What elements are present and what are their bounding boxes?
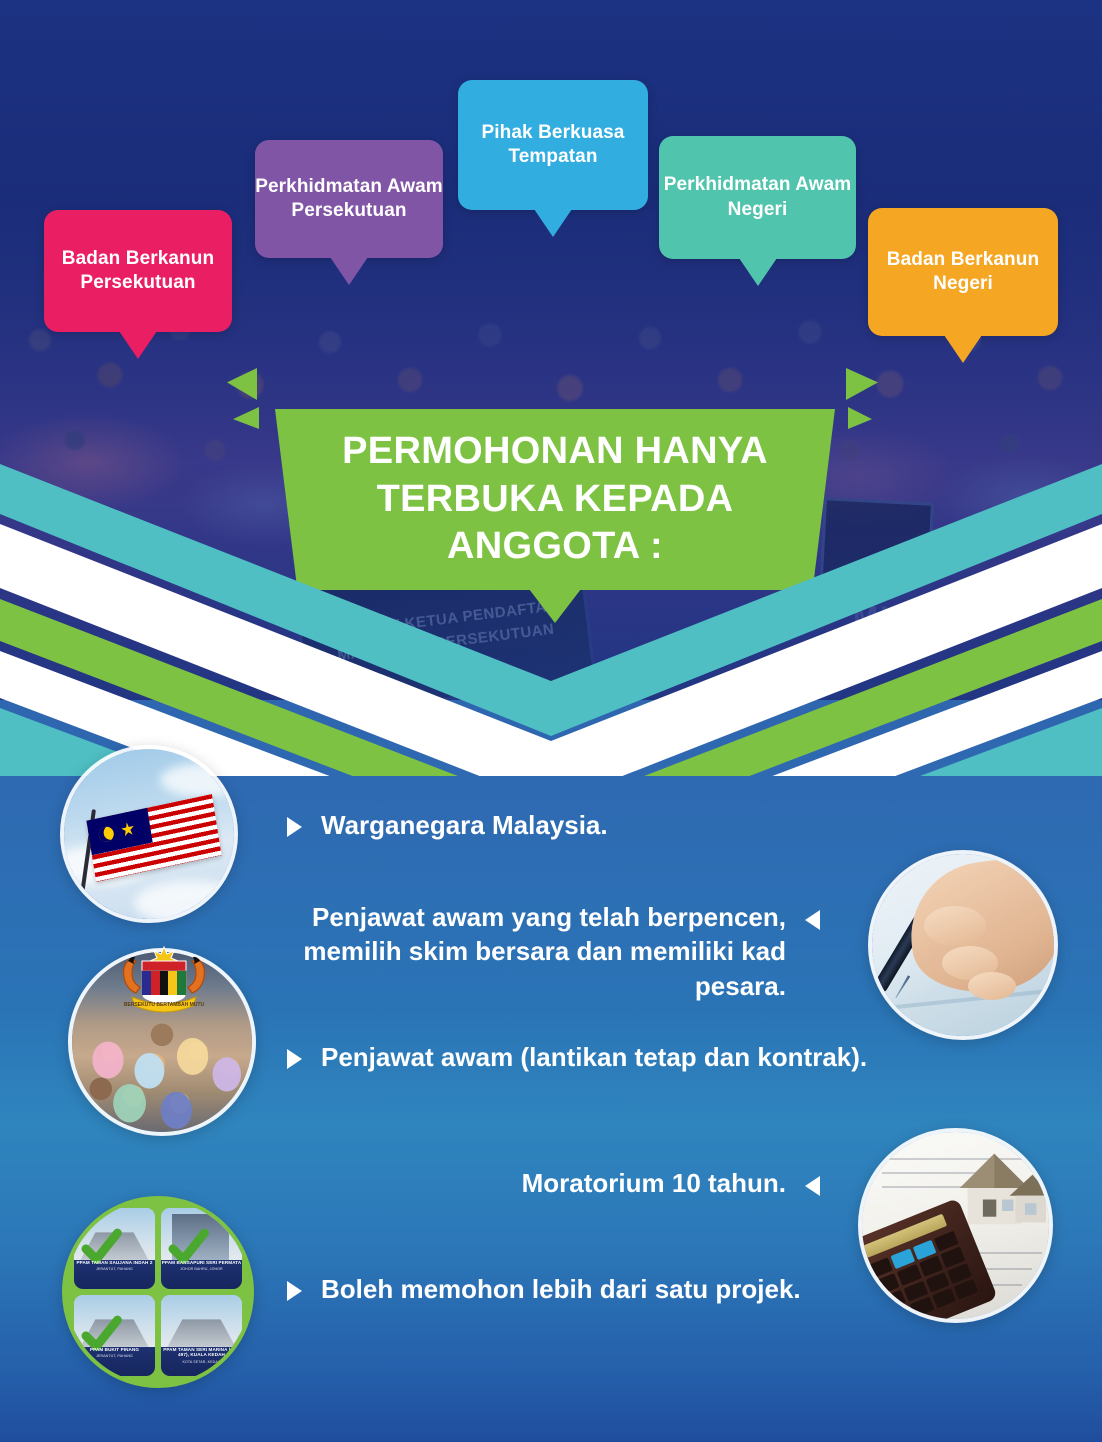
bubble-pihak-berkuasa-tempatan[interactable]: Pihak Berkuasa Tempatan xyxy=(458,80,648,210)
criteria-text: Moratorium 10 tahun. xyxy=(300,1166,820,1200)
projects-grid: PPAM TAMAN SAUJANA INDAH 2 JERANTUT, PAH… xyxy=(74,1208,242,1376)
criteria-text: Boleh memohon lebih dari satu projek. xyxy=(321,1272,801,1306)
cloud-shape xyxy=(134,881,238,923)
bullet-arrow-right-icon xyxy=(287,1281,302,1301)
finger-shape xyxy=(968,972,1016,1000)
criteria-item-penjawat-awam: Penjawat awam (lantikan tetap dan kontra… xyxy=(287,1040,867,1074)
bubble-label: Perkhidmatan Awam Negeri xyxy=(659,173,856,222)
criteria-text: Warganegara Malaysia. xyxy=(321,808,608,842)
poster-root: MH ONLINE PEJABAT KETUA PENDAFTAR MAHKAM… xyxy=(0,0,1102,1442)
bullet-arrow-left-icon xyxy=(805,910,820,930)
criteria-item-moratorium: Moratorium 10 tahun. xyxy=(300,1166,820,1200)
project-label: PPAM TAMAN SERI MARINA (LOT 497), KUALA … xyxy=(161,1344,242,1376)
calculator-house-image xyxy=(858,1128,1053,1323)
project-location: KOTA SETAR, KEDAH xyxy=(161,1360,242,1364)
criteria-item-pesara: Penjawat awam yang telah berpencen, memi… xyxy=(300,900,820,1003)
bubble-tail-icon xyxy=(534,209,572,237)
bubble-badan-berkanun-negeri[interactable]: Badan Berkanun Negeri xyxy=(868,208,1058,336)
signing-document-image xyxy=(868,850,1058,1040)
bubble-badan-berkanun-persekutuan[interactable]: Badan Berkanun Persekutuan xyxy=(44,210,232,332)
housing-projects-image: PPAM TAMAN SAUJANA INDAH 2 JERANTUT, PAH… xyxy=(62,1196,254,1388)
criteria-section: BERSEKUTU BERTAMBAH MUTU PPAM TAMAN SAUJ… xyxy=(0,700,1102,1442)
calculator-key xyxy=(954,1279,979,1300)
project-name: PPAM BUKIT PINANG xyxy=(90,1347,139,1352)
bubble-label: Perkhidmatan Awam Persekutuan xyxy=(255,175,443,224)
calculator-key xyxy=(910,1296,935,1317)
project-card[interactable]: PPAM BANSAPURI SERI PERMATA JOHOR BAHRU,… xyxy=(161,1208,242,1289)
criteria-item-warganegara: Warganegara Malaysia. xyxy=(287,808,608,842)
bullet-arrow-right-icon xyxy=(287,817,302,837)
jata-negara-coat-of-arms-icon: BERSEKUTU BERTAMBAH MUTU xyxy=(112,943,216,1013)
bubble-perkhidmatan-awam-persekutuan[interactable]: Perkhidmatan Awam Persekutuan xyxy=(255,140,443,258)
project-card[interactable]: PPAM BUKIT PINANG JERANTUT, PAHANG xyxy=(74,1295,155,1376)
bubble-tail-icon xyxy=(330,257,368,285)
criteria-item-lebih-satu-projek: Boleh memohon lebih dari satu projek. xyxy=(287,1272,801,1306)
bullet-arrow-left-icon xyxy=(805,1176,820,1196)
bubble-perkhidmatan-awam-negeri[interactable]: Perkhidmatan Awam Negeri xyxy=(659,136,856,259)
project-location: JOHOR BAHRU, JOHOR xyxy=(161,1267,242,1271)
bullet-arrow-right-icon xyxy=(287,1049,302,1069)
bubble-label: Pihak Berkuasa Tempatan xyxy=(458,121,648,170)
svg-text:BERSEKUTU BERTAMBAH MUTU: BERSEKUTU BERTAMBAH MUTU xyxy=(124,1002,205,1008)
project-name: PPAM TAMAN SAUJANA INDAH 2 xyxy=(76,1260,152,1265)
bubble-tail-icon xyxy=(119,331,157,359)
finger-shape xyxy=(924,906,986,946)
project-label: PPAM BANSAPURI SERI PERMATA JOHOR BAHRU,… xyxy=(161,1257,242,1289)
criteria-text: Penjawat awam yang telah berpencen, memi… xyxy=(300,900,820,1003)
bubble-label: Badan Berkanun Negeri xyxy=(868,248,1058,297)
bubble-label: Badan Berkanun Persekutuan xyxy=(44,247,232,296)
model-house-icon xyxy=(954,1146,1050,1232)
project-name: PPAM TAMAN SERI MARINA (LOT 497), KUALA … xyxy=(163,1347,240,1358)
project-card[interactable]: PPAM TAMAN SERI MARINA (LOT 497), KUALA … xyxy=(161,1295,242,1376)
project-card[interactable]: PPAM TAMAN SAUJANA INDAH 2 JERANTUT, PAH… xyxy=(74,1208,155,1289)
bubble-tail-icon xyxy=(944,335,982,363)
criteria-text: Penjawat awam (lantikan tetap dan kontra… xyxy=(321,1040,867,1074)
project-label: PPAM TAMAN SAUJANA INDAH 2 JERANTUT, PAH… xyxy=(74,1257,155,1289)
project-name: PPAM BANSAPURI SERI PERMATA xyxy=(162,1260,242,1265)
cloud-shape xyxy=(160,763,238,797)
project-location: JERANTUT, PAHANG xyxy=(74,1354,155,1358)
malaysia-flag-image xyxy=(60,745,238,923)
project-location: JERANTUT, PAHANG xyxy=(74,1267,155,1271)
calculator-key xyxy=(932,1288,957,1309)
project-label: PPAM BUKIT PINANG JERANTUT, PAHANG xyxy=(74,1344,155,1376)
bubble-tail-icon xyxy=(739,258,777,286)
